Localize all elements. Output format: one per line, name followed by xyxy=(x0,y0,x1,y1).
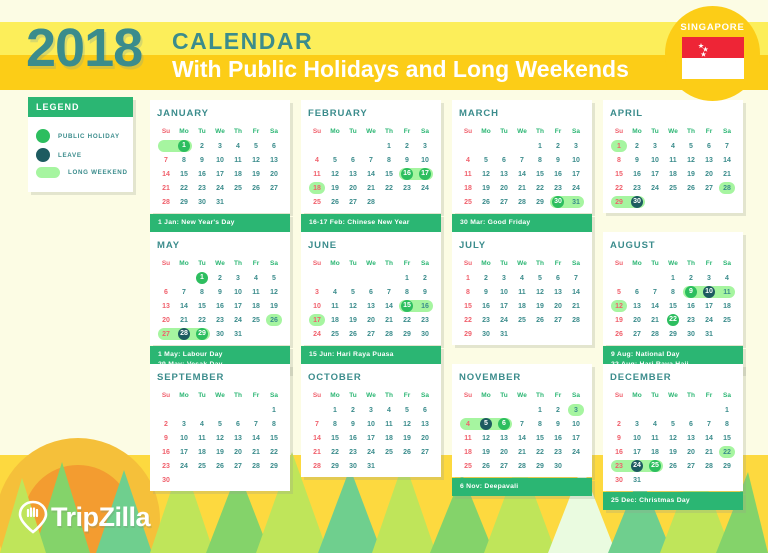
day-number: 30 xyxy=(162,477,170,484)
day-cell: 20 xyxy=(229,445,247,459)
holiday-note: 25 Dec: Christmas Day xyxy=(603,492,743,510)
week-row: 12 xyxy=(308,271,434,285)
day-number: 22 xyxy=(270,449,278,456)
day-cell: 15 xyxy=(326,431,344,445)
day-number: 1 xyxy=(196,272,208,284)
day-cell: 6 xyxy=(628,285,646,299)
day-cell: 13 xyxy=(362,299,380,313)
day-cell: 19 xyxy=(477,445,495,459)
weekday-header: Sa xyxy=(567,257,585,271)
day-cell: 23 xyxy=(477,313,495,327)
week-row: 1234 xyxy=(610,271,736,285)
holiday-note-line: 1 May: Labour Day xyxy=(158,350,283,360)
day-cell: 4 xyxy=(646,417,664,431)
day-number: 29 xyxy=(723,463,731,470)
day-cell: 24 xyxy=(362,445,380,459)
day-number: 1 xyxy=(178,140,190,152)
day-number: 11 xyxy=(464,171,471,178)
day-number: 2 xyxy=(200,143,204,150)
day-number: 19 xyxy=(252,171,260,178)
page-title-calendar: CALENDAR xyxy=(172,28,313,55)
day-cell: 18 xyxy=(459,181,477,195)
weekday-header: We xyxy=(664,389,682,403)
day-cell-empty xyxy=(682,195,700,209)
week-row: 11121314151617 xyxy=(459,431,585,445)
day-cell: 23 xyxy=(157,459,175,473)
day-number: 24 xyxy=(572,185,580,192)
week-row: 9101112131415 xyxy=(610,431,736,445)
day-number: 10 xyxy=(703,286,715,298)
day-cell: 18 xyxy=(247,299,265,313)
day-number: 3 xyxy=(574,407,578,414)
weekday-header: Mo xyxy=(477,125,495,139)
week-row: 252627282930 xyxy=(459,459,585,473)
day-cell: 19 xyxy=(610,313,628,327)
day-cell: 3 xyxy=(495,271,513,285)
day-cell-empty xyxy=(416,459,434,473)
day-number: 20 xyxy=(500,185,508,192)
day-number: 27 xyxy=(367,331,375,338)
day-cell: 8 xyxy=(326,417,344,431)
day-cell: 14 xyxy=(513,167,531,181)
day-number: 16 xyxy=(615,449,623,456)
day-cell: 12 xyxy=(682,153,700,167)
day-cell-empty xyxy=(308,403,326,417)
weekday-header: Th xyxy=(531,125,549,139)
day-number: 14 xyxy=(572,289,580,296)
day-cell-empty xyxy=(326,271,344,285)
day-number: 13 xyxy=(367,303,375,310)
day-cell: 28 xyxy=(157,195,175,209)
day-cell: 10 xyxy=(229,285,247,299)
day-number: 2 xyxy=(164,421,168,428)
day-number: 6 xyxy=(236,421,240,428)
day-number: 26 xyxy=(687,185,695,192)
day-cell-empty xyxy=(682,473,700,487)
day-number: 14 xyxy=(313,435,321,442)
holiday-note: 1 Jan: New Year's Day xyxy=(150,214,290,232)
page-subtitle: With Public Holidays and Long Weekends xyxy=(172,56,629,83)
day-number: 26 xyxy=(482,463,490,470)
day-number: 24 xyxy=(421,185,429,192)
day-number: 13 xyxy=(687,435,695,442)
week-row: 45678910 xyxy=(308,153,434,167)
day-cell: 10 xyxy=(495,285,513,299)
day-cell: 11 xyxy=(459,431,477,445)
day-number: 26 xyxy=(331,199,339,206)
day-cell-empty xyxy=(495,139,513,153)
month-card: OCTOBERSuMoTuWeThFrSa1234567891011121314… xyxy=(301,364,441,477)
day-number: 20 xyxy=(554,303,562,310)
day-number: 28 xyxy=(178,328,190,340)
day-cell: 3 xyxy=(229,271,247,285)
day-cell: 11 xyxy=(193,431,211,445)
day-cell: 5 xyxy=(682,139,700,153)
day-cell: 12 xyxy=(477,167,495,181)
day-number: 30 xyxy=(687,331,695,338)
day-number: 15 xyxy=(536,171,544,178)
day-cell: 27 xyxy=(700,181,718,195)
month-card: APRILSuMoTuWeThFrSa123456789101112131415… xyxy=(603,100,743,213)
day-cell-empty xyxy=(459,403,477,417)
day-cell: 23 xyxy=(416,313,434,327)
day-number: 1 xyxy=(272,407,276,414)
day-number: 25 xyxy=(198,463,206,470)
day-cell: 29 xyxy=(718,459,736,473)
day-cell-empty xyxy=(416,195,434,209)
day-cell: 23 xyxy=(610,459,628,473)
day-cell: 30 xyxy=(193,195,211,209)
day-cell: 29 xyxy=(398,327,416,341)
day-number: 17 xyxy=(367,435,375,442)
day-number: 29 xyxy=(536,463,544,470)
day-number: 31 xyxy=(572,199,580,206)
day-cell: 27 xyxy=(229,459,247,473)
day-number: 26 xyxy=(536,317,544,324)
day-number: 11 xyxy=(198,435,205,442)
day-cell: 1 xyxy=(175,139,193,153)
weekday-header: Tu xyxy=(193,125,211,139)
week-row: 16171819202122 xyxy=(157,445,283,459)
week-row: 25262728293031 xyxy=(459,195,585,209)
day-cell: 22 xyxy=(459,313,477,327)
day-cell: 17 xyxy=(229,299,247,313)
day-number: 10 xyxy=(572,421,580,428)
weekday-header: Su xyxy=(157,257,175,271)
day-cell-empty xyxy=(175,271,193,285)
day-number: 31 xyxy=(633,477,641,484)
day-cell: 2 xyxy=(211,271,229,285)
weekday-header: Tu xyxy=(646,257,664,271)
day-cell: 29 xyxy=(459,327,477,341)
day-cell: 12 xyxy=(398,417,416,431)
day-cell: 28 xyxy=(700,459,718,473)
day-number: 22 xyxy=(667,314,679,326)
day-cell: 11 xyxy=(308,167,326,181)
day-cell: 10 xyxy=(211,153,229,167)
day-number: 25 xyxy=(331,331,339,338)
day-number: 6 xyxy=(498,418,510,430)
day-number: 21 xyxy=(518,449,526,456)
day-cell: 17 xyxy=(175,445,193,459)
day-cell: 8 xyxy=(398,285,416,299)
day-cell: 12 xyxy=(610,299,628,313)
day-cell: 20 xyxy=(265,167,283,181)
day-cell: 2 xyxy=(193,139,211,153)
day-number: 21 xyxy=(162,185,170,192)
day-cell: 16 xyxy=(549,431,567,445)
week-row: 123 xyxy=(459,139,585,153)
day-number: 5 xyxy=(351,289,355,296)
day-cell: 24 xyxy=(308,327,326,341)
day-cell-empty xyxy=(664,473,682,487)
day-cell: 14 xyxy=(157,167,175,181)
day-cell: 7 xyxy=(567,271,585,285)
week-row: 262728293031 xyxy=(610,327,736,341)
holiday-note: 15 Jun: Hari Raya Puasa xyxy=(301,346,441,364)
day-cell: 24 xyxy=(211,181,229,195)
day-number: 25 xyxy=(313,199,321,206)
week-row: 123456 xyxy=(157,139,283,153)
day-cell: 28 xyxy=(567,313,585,327)
weekday-header: Th xyxy=(380,125,398,139)
day-number: 6 xyxy=(502,157,506,164)
day-cell: 9 xyxy=(193,153,211,167)
day-cell-empty xyxy=(700,195,718,209)
day-number: 26 xyxy=(216,463,224,470)
day-cell-empty xyxy=(362,271,380,285)
day-cell: 21 xyxy=(718,167,736,181)
day-cell: 10 xyxy=(175,431,193,445)
week-row: 20212223242526 xyxy=(157,313,283,327)
day-number: 14 xyxy=(367,171,375,178)
day-cell: 13 xyxy=(229,431,247,445)
day-number: 6 xyxy=(369,289,373,296)
week-row: 45678910 xyxy=(459,417,585,431)
day-number: 15 xyxy=(331,435,339,442)
week-row: 123 xyxy=(459,403,585,417)
day-cell: 21 xyxy=(380,313,398,327)
day-cell: 13 xyxy=(495,431,513,445)
day-number: 21 xyxy=(313,449,321,456)
day-number: 16 xyxy=(421,303,429,310)
week-row: 23242526272829 xyxy=(157,459,283,473)
day-cell: 16 xyxy=(157,445,175,459)
day-cell-empty xyxy=(380,459,398,473)
day-number: 21 xyxy=(651,317,659,324)
weekday-header: We xyxy=(664,257,682,271)
day-number: 17 xyxy=(572,171,580,178)
month-title: SEPTEMBER xyxy=(157,372,283,383)
weekday-header: Su xyxy=(459,389,477,403)
day-number: 23 xyxy=(615,463,623,470)
day-number: 17 xyxy=(419,168,431,180)
day-cell: 9 xyxy=(157,431,175,445)
day-number: 25 xyxy=(464,199,472,206)
month-card: JUNESuMoTuWeThFrSa1234567891011121314151… xyxy=(301,232,441,345)
weekday-header: Tu xyxy=(193,257,211,271)
day-cell-empty xyxy=(211,473,229,487)
day-number: 18 xyxy=(518,303,526,310)
weekday-header: Su xyxy=(308,389,326,403)
day-number: 18 xyxy=(651,449,659,456)
week-row: 6789101112 xyxy=(157,285,283,299)
day-cell: 15 xyxy=(718,431,736,445)
weekday-header: Tu xyxy=(495,257,513,271)
day-number: 4 xyxy=(254,275,258,282)
day-number: 24 xyxy=(216,185,224,192)
day-number: 6 xyxy=(351,157,355,164)
day-cell: 6 xyxy=(265,139,283,153)
day-number: 28 xyxy=(162,199,170,206)
day-number: 11 xyxy=(723,289,730,296)
day-cell: 17 xyxy=(495,299,513,313)
day-number: 8 xyxy=(466,289,470,296)
day-number: 30 xyxy=(552,196,564,208)
day-cell: 4 xyxy=(718,271,736,285)
day-cell: 21 xyxy=(308,445,326,459)
day-cell: 6 xyxy=(344,153,362,167)
day-cell-empty xyxy=(265,327,283,341)
week-row: 123 xyxy=(308,139,434,153)
day-number: 28 xyxy=(252,463,260,470)
day-cell: 1 xyxy=(193,271,211,285)
day-number: 24 xyxy=(234,317,242,324)
weekday-header: Fr xyxy=(549,125,567,139)
day-cell: 28 xyxy=(308,459,326,473)
day-cell: 1 xyxy=(531,139,549,153)
month-card: MAYSuMoTuWeThFrSa12345678910111213141516… xyxy=(150,232,290,345)
month-title: FEBRUARY xyxy=(308,108,434,119)
day-cell: 18 xyxy=(646,445,664,459)
day-number: 14 xyxy=(723,157,731,164)
day-cell: 2 xyxy=(682,271,700,285)
day-number: 7 xyxy=(574,275,578,282)
day-cell: 3 xyxy=(646,139,664,153)
month-day-grid: SuMoTuWeThFrSa12345678910111213141516171… xyxy=(610,125,736,209)
day-cell: 19 xyxy=(398,431,416,445)
week-row: 28293031 xyxy=(308,459,434,473)
day-number: 11 xyxy=(313,171,320,178)
week-row: 22232425262728 xyxy=(610,181,736,195)
weekday-header: We xyxy=(362,125,380,139)
day-number: 8 xyxy=(725,421,729,428)
day-number: 12 xyxy=(331,171,339,178)
day-number: 27 xyxy=(270,185,278,192)
weekday-header: Su xyxy=(610,389,628,403)
day-number: 5 xyxy=(484,157,488,164)
day-number: 5 xyxy=(617,289,621,296)
day-number: 4 xyxy=(200,421,204,428)
day-cell: 12 xyxy=(211,431,229,445)
day-cell: 20 xyxy=(628,313,646,327)
day-cell: 25 xyxy=(380,445,398,459)
day-number: 7 xyxy=(520,421,524,428)
day-number: 1 xyxy=(333,407,337,414)
day-cell: 20 xyxy=(700,167,718,181)
month-title: APRIL xyxy=(610,108,736,119)
day-cell: 25 xyxy=(646,459,664,473)
day-number: 16 xyxy=(554,171,562,178)
day-cell: 23 xyxy=(211,313,229,327)
day-cell: 30 xyxy=(549,195,567,209)
day-cell: 30 xyxy=(628,195,646,209)
weekday-header: Sa xyxy=(718,389,736,403)
weekday-header: Th xyxy=(682,257,700,271)
day-cell: 24 xyxy=(646,181,664,195)
day-cell: 4 xyxy=(193,417,211,431)
week-row: 15161718192021 xyxy=(610,167,736,181)
day-number: 8 xyxy=(671,289,675,296)
day-cell: 1 xyxy=(610,139,628,153)
day-number: 29 xyxy=(615,199,623,206)
day-number: 19 xyxy=(482,449,490,456)
weekday-header: Sa xyxy=(265,125,283,139)
day-cell: 8 xyxy=(610,153,628,167)
day-cell: 30 xyxy=(610,473,628,487)
day-cell: 22 xyxy=(175,181,193,195)
day-cell-empty xyxy=(344,139,362,153)
day-number: 19 xyxy=(687,171,695,178)
day-cell: 24 xyxy=(567,445,585,459)
day-number: 23 xyxy=(421,317,429,324)
day-cell-empty xyxy=(229,403,247,417)
day-number: 16 xyxy=(482,303,490,310)
day-number: 23 xyxy=(482,317,490,324)
day-cell: 17 xyxy=(567,167,585,181)
weekday-header: Sa xyxy=(265,257,283,271)
day-number: 11 xyxy=(518,289,525,296)
weekday-header: Th xyxy=(531,257,549,271)
day-cell: 28 xyxy=(513,195,531,209)
day-cell: 17 xyxy=(646,167,664,181)
day-number: 11 xyxy=(464,435,471,442)
day-cell-empty xyxy=(513,403,531,417)
day-cell: 28 xyxy=(513,459,531,473)
day-number: 10 xyxy=(367,421,375,428)
day-number: 11 xyxy=(385,421,392,428)
day-number: 10 xyxy=(234,289,242,296)
day-cell-empty xyxy=(513,139,531,153)
day-cell-empty xyxy=(344,271,362,285)
day-cell: 27 xyxy=(549,313,567,327)
day-cell: 30 xyxy=(157,473,175,487)
day-cell: 5 xyxy=(398,403,416,417)
day-cell: 26 xyxy=(344,327,362,341)
day-cell: 5 xyxy=(265,271,283,285)
day-number: 12 xyxy=(216,435,224,442)
day-cell: 11 xyxy=(229,153,247,167)
day-cell: 26 xyxy=(477,195,495,209)
day-number: 15 xyxy=(536,435,544,442)
day-number: 13 xyxy=(500,171,508,178)
day-cell: 20 xyxy=(157,313,175,327)
day-number: 7 xyxy=(387,289,391,296)
day-number: 11 xyxy=(651,435,658,442)
day-cell: 2 xyxy=(610,417,628,431)
day-number: 1 xyxy=(405,275,409,282)
day-number: 9 xyxy=(423,289,427,296)
week-row: 12345 xyxy=(157,271,283,285)
day-cell: 17 xyxy=(308,313,326,327)
day-number: 3 xyxy=(653,143,657,150)
day-cell: 31 xyxy=(567,195,585,209)
day-number: 23 xyxy=(216,317,224,324)
day-number: 2 xyxy=(556,407,560,414)
day-number: 23 xyxy=(554,449,562,456)
holiday-note-line: 1 Jan: New Year's Day xyxy=(158,218,283,228)
day-cell: 12 xyxy=(326,167,344,181)
day-number: 12 xyxy=(615,303,623,310)
day-number: 14 xyxy=(162,171,170,178)
day-cell: 28 xyxy=(718,181,736,195)
day-cell: 28 xyxy=(362,195,380,209)
day-number: 30 xyxy=(631,196,643,208)
day-cell: 6 xyxy=(362,285,380,299)
week-row: 18192021222324 xyxy=(308,181,434,195)
day-cell: 25 xyxy=(513,313,531,327)
day-number: 15 xyxy=(198,303,206,310)
day-cell: 28 xyxy=(175,327,193,341)
day-cell: 17 xyxy=(211,167,229,181)
day-cell: 13 xyxy=(495,167,513,181)
day-number: 28 xyxy=(572,317,580,324)
day-cell: 17 xyxy=(700,299,718,313)
day-cell-empty xyxy=(247,195,265,209)
day-number: 6 xyxy=(635,289,639,296)
day-number: 12 xyxy=(482,435,490,442)
day-number: 24 xyxy=(313,331,321,338)
